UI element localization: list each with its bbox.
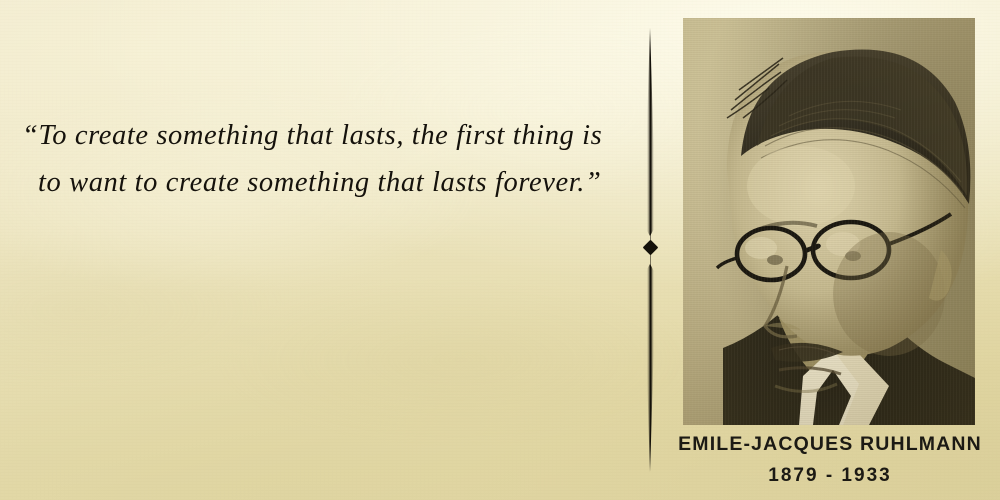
portrait-illustration (683, 18, 975, 425)
ornament-spindle-bottom (647, 264, 654, 472)
subject-name: EMILE-JACQUES RUHLMANN (660, 433, 1000, 456)
quote-card: “To create something that lasts, the fir… (0, 0, 1000, 500)
ornament-center-node (642, 240, 658, 256)
quote-line-1: “To create something that lasts, the fir… (22, 112, 622, 159)
ornament-spindle-top (647, 28, 654, 236)
caption: EMILE-JACQUES RUHLMANN 1879 - 1933 (660, 433, 1000, 487)
quote-block: “To create something that lasts, the fir… (22, 112, 622, 206)
portrait-photo (683, 18, 975, 425)
vertical-spindle-ornament-icon (643, 28, 657, 472)
quote-line-2: to want to create something that lasts f… (22, 159, 622, 206)
subject-dates: 1879 - 1933 (660, 465, 1000, 487)
